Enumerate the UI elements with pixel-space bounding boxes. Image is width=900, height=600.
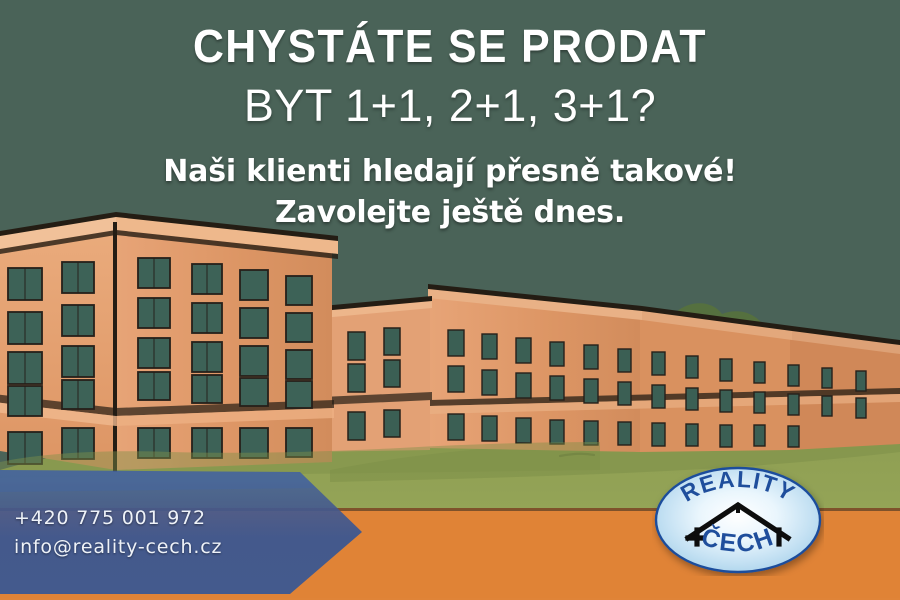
phone-number[interactable]: +420 775 001 972 (14, 504, 222, 533)
email-address[interactable]: info@reality-cech.cz (14, 533, 222, 562)
company-logo[interactable]: REALITY ČECH (652, 464, 824, 576)
advertisement-banner: CHYSTÁTE SE PRODAT BYT 1+1, 2+1, 3+1? Na… (0, 0, 900, 600)
headline-line-2: BYT 1+1, 2+1, 3+1? (0, 78, 900, 134)
headline: CHYSTÁTE SE PRODAT BYT 1+1, 2+1, 3+1? (0, 22, 900, 134)
subheadline-line-2: Zavolejte ještě dnes. (0, 193, 900, 234)
contact-details: +420 775 001 972 info@reality-cech.cz (14, 504, 222, 562)
building-main-block (0, 212, 338, 472)
subheadline: Naši klienti hledají přesně takové! Zavo… (0, 152, 900, 234)
subheadline-line-1: Naši klienti hledají přesně takové! (0, 152, 900, 193)
headline-line-1: CHYSTÁTE SE PRODAT (32, 22, 869, 72)
